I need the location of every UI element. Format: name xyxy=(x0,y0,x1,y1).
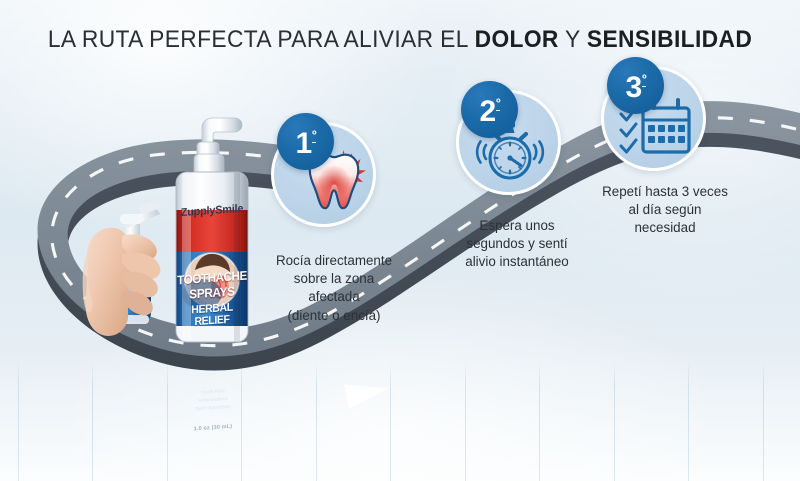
step-3-badge: 3º xyxy=(607,57,664,114)
step-1-caption: Rocía directamente sobre la zona afectad… xyxy=(249,252,419,325)
product-bullet-list: Tooth Pain Inflammation Tooth Sensitivit… xyxy=(184,386,242,414)
step-3-caption: Repetí hasta 3 veces al día según necesi… xyxy=(572,183,758,238)
title-emphasis-sensibilidad: SENSIBILIDAD xyxy=(587,26,752,53)
product-bottle: ZupplySmile TOOTHACHE SPRAYS HERBAL RELI… xyxy=(158,112,266,353)
step-1-number: 1 xyxy=(295,129,311,159)
infographic-canvas: LA RUTA PERFECTA PARA ALIVIAR EL DOLOR Y… xyxy=(0,0,800,481)
title-conjunction: Y xyxy=(559,26,587,53)
step-2-number: 2 xyxy=(479,97,495,127)
step-1-ordinal: º xyxy=(312,129,315,143)
step-1-badge: 1º xyxy=(277,113,334,170)
step-2-ordinal: º xyxy=(496,97,499,111)
step-3-ordinal: º xyxy=(642,73,645,87)
title-part-1: LA RUTA PERFECTA PARA ALIVIAR EL xyxy=(48,26,475,53)
bottle-nozzle xyxy=(197,118,242,156)
page-title: LA RUTA PERFECTA PARA ALIVIAR EL DOLOR Y… xyxy=(28,26,772,54)
title-emphasis-dolor: DOLOR xyxy=(475,26,559,53)
step-3-number: 3 xyxy=(625,73,641,103)
step-2-badge: 2º xyxy=(461,81,518,138)
road-direction-arrow-icon xyxy=(344,376,390,409)
